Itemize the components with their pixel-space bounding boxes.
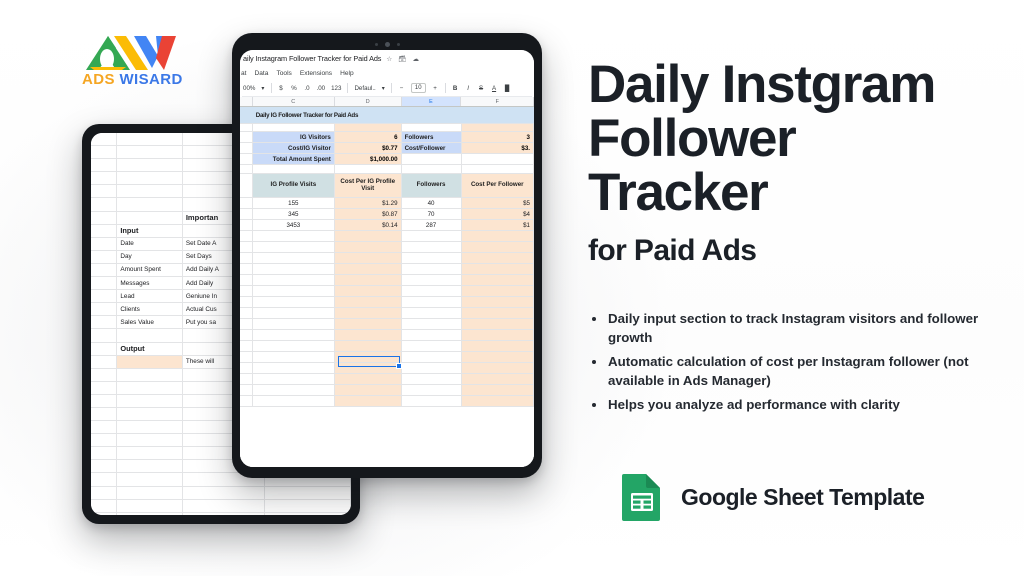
sheets-toolbar: 00% ▾ $ % .0 .00 123 Defaul.. ▾ − 10 + B… <box>242 80 532 97</box>
text-color-button[interactable]: A <box>491 85 498 92</box>
empty-cell[interactable] <box>462 330 534 340</box>
cell[interactable] <box>91 487 117 499</box>
table-empty-row <box>240 242 534 253</box>
empty-cell[interactable] <box>335 124 402 131</box>
empty-cell[interactable] <box>402 374 462 384</box>
empty-cell[interactable] <box>462 363 534 373</box>
row-gutter[interactable] <box>240 264 253 274</box>
cell[interactable] <box>91 460 117 472</box>
empty-cell[interactable] <box>335 330 402 340</box>
summary-label-2[interactable] <box>402 154 462 164</box>
cell[interactable] <box>117 369 182 381</box>
column-header-e[interactable]: E <box>402 97 462 106</box>
cell[interactable] <box>91 212 117 224</box>
empty-cell[interactable] <box>335 308 402 318</box>
empty-cell[interactable] <box>462 352 534 362</box>
cell[interactable] <box>183 513 265 515</box>
empty-cell[interactable] <box>253 124 335 131</box>
empty-cell[interactable] <box>462 308 534 318</box>
table-row: 155$1.2940$5 <box>240 198 534 209</box>
secondary-row-label[interactable]: Date <box>117 238 182 250</box>
row-gutter[interactable] <box>240 253 253 263</box>
menu-item-at[interactable]: at <box>241 70 247 77</box>
empty-cell[interactable] <box>253 330 335 340</box>
cell[interactable] <box>91 146 117 158</box>
empty-cell[interactable] <box>462 396 534 406</box>
row-gutter[interactable] <box>240 275 253 285</box>
empty-cell[interactable] <box>402 308 462 318</box>
summary-row: IG Visitors6Followers3 <box>240 132 534 143</box>
empty-cell[interactable] <box>402 363 462 373</box>
cell[interactable] <box>91 159 117 171</box>
table-empty-row <box>240 264 534 275</box>
row-gutter[interactable] <box>240 374 253 384</box>
empty-cell[interactable] <box>335 264 402 274</box>
table-empty-row <box>240 275 534 286</box>
row-gutter[interactable] <box>240 319 253 329</box>
cell[interactable] <box>265 513 351 515</box>
column-header-d[interactable]: D <box>335 97 402 106</box>
cell[interactable] <box>117 473 182 485</box>
cell[interactable] <box>91 290 117 302</box>
empty-cell[interactable] <box>462 341 534 351</box>
menu-item-data[interactable]: Data <box>255 70 269 77</box>
font-size-decrease-button[interactable]: − <box>398 85 405 92</box>
hero-text-block: Daily Instgram Follower Tracker for Paid… <box>588 58 998 420</box>
table-column-header: Cost Per Follower <box>462 174 534 197</box>
secondary-row-label[interactable]: Clients <box>117 303 182 315</box>
table-empty-row <box>240 231 534 242</box>
font-size-input[interactable]: 10 <box>411 83 426 93</box>
feature-list-item: Helps you analyze ad performance with cl… <box>588 396 998 415</box>
empty-cell[interactable] <box>253 242 335 252</box>
table-empty-row <box>240 319 534 330</box>
title-bar-icons: ☆ 🗃 ☁ <box>386 55 419 63</box>
cell-cost-per-follower[interactable]: $4 <box>462 209 534 219</box>
fill-color-icon[interactable]: █ <box>504 85 511 92</box>
empty-cell[interactable] <box>253 253 335 263</box>
italic-button[interactable]: I <box>465 85 472 92</box>
empty-cell[interactable] <box>462 253 534 263</box>
cell[interactable] <box>91 369 117 381</box>
brand-name-part1: ADS <box>82 71 115 88</box>
column-header-f[interactable]: F <box>461 97 534 106</box>
table-empty-row <box>240 396 534 407</box>
empty-cell[interactable] <box>335 286 402 296</box>
row-gutter[interactable] <box>240 198 253 208</box>
row-gutter[interactable] <box>240 174 253 197</box>
brand-name-part2: WISARD <box>119 71 182 88</box>
sheets-menu-bar: atDataToolsExtensionsHelp <box>240 67 534 79</box>
row-gutter[interactable] <box>240 363 253 373</box>
summary-value[interactable]: $1,000.00 <box>335 154 402 164</box>
cell[interactable] <box>117 421 182 433</box>
empty-cell[interactable] <box>402 124 462 131</box>
column-header-c[interactable]: C <box>253 97 335 106</box>
secondary-row-label[interactable]: Messages <box>117 277 182 289</box>
summary-value-2[interactable] <box>462 154 534 164</box>
empty-cell[interactable] <box>402 242 462 252</box>
empty-cell[interactable] <box>335 275 402 285</box>
empty-cell[interactable] <box>335 396 402 406</box>
empty-cell[interactable] <box>335 231 402 241</box>
empty-cell[interactable] <box>462 124 534 131</box>
empty-cell[interactable] <box>253 264 335 274</box>
table-row: 3453$0.14287$1 <box>240 220 534 231</box>
row-gutter[interactable] <box>240 330 253 340</box>
summary-row: Cost/IG Visitor$0.77Cost/Follower$3. <box>240 143 534 154</box>
font-chevron-down-icon[interactable]: ▾ <box>382 85 385 92</box>
row-gutter[interactable] <box>240 352 253 362</box>
empty-cell[interactable] <box>335 319 402 329</box>
zoom-level[interactable]: 00% <box>243 85 255 92</box>
secondary-section-output[interactable]: Output <box>117 343 182 355</box>
empty-cell[interactable] <box>462 275 534 285</box>
cell[interactable] <box>183 487 265 499</box>
cell[interactable] <box>91 329 117 341</box>
cell[interactable] <box>91 421 117 433</box>
headline-line-2: Follower <box>588 112 998 166</box>
empty-cell[interactable] <box>253 396 335 406</box>
cell[interactable] <box>117 185 182 197</box>
secondary-sheet-row <box>91 500 351 513</box>
summary-label-2[interactable]: Cost/Follower <box>402 143 462 153</box>
cell-cost-per-follower[interactable]: $1 <box>462 220 534 230</box>
secondary-sheet-row <box>91 487 351 500</box>
empty-cell[interactable] <box>402 297 462 307</box>
empty-cell[interactable] <box>253 363 335 373</box>
empty-cell[interactable] <box>253 275 335 285</box>
cell[interactable] <box>117 395 182 407</box>
cell-ig-profile-visits[interactable]: 155 <box>253 198 335 208</box>
cell[interactable] <box>117 460 182 472</box>
summary-label[interactable]: Cost/IG Visitor <box>253 143 335 153</box>
table-empty-row <box>240 341 534 352</box>
primary-tablet-screen: aily Instagram Follower Tracker for Paid… <box>240 50 534 467</box>
empty-cell[interactable] <box>402 275 462 285</box>
empty-cell[interactable] <box>253 286 335 296</box>
toolbar-divider <box>271 83 272 93</box>
empty-cell[interactable] <box>402 341 462 351</box>
cell[interactable] <box>91 408 117 420</box>
empty-cell[interactable] <box>253 374 335 384</box>
row-gutter[interactable] <box>240 107 253 123</box>
cell[interactable] <box>91 343 117 355</box>
row-gutter[interactable] <box>240 297 253 307</box>
cell[interactable] <box>183 500 265 512</box>
row-gutter[interactable] <box>240 308 253 318</box>
empty-cell[interactable] <box>462 374 534 384</box>
cell[interactable] <box>91 434 117 446</box>
empty-cell[interactable] <box>253 319 335 329</box>
empty-cell[interactable] <box>462 165 534 173</box>
table-column-header: Followers <box>402 174 462 197</box>
strikethrough-button[interactable]: S <box>478 85 485 92</box>
cell-cost-per-visit[interactable]: $0.14 <box>335 220 402 230</box>
cell-followers[interactable]: 70 <box>402 209 462 219</box>
cell[interactable] <box>117 198 182 210</box>
cell[interactable] <box>91 277 117 289</box>
table-empty-row <box>240 330 534 341</box>
headline-line-1: Daily Instgram <box>588 58 998 112</box>
table-empty-row <box>240 374 534 385</box>
sheet-table-header-row: IG Profile VisitsCost Per IG Profile Vis… <box>240 174 534 198</box>
front-camera-cluster <box>232 40 542 48</box>
cell[interactable] <box>91 500 117 512</box>
empty-cell[interactable] <box>402 330 462 340</box>
document-title[interactable]: aily Instagram Follower Tracker for Paid… <box>243 54 381 63</box>
cell-ig-profile-visits[interactable]: 345 <box>253 209 335 219</box>
row-gutter[interactable] <box>240 143 253 153</box>
cell[interactable] <box>91 238 117 250</box>
grid-corner <box>240 97 253 106</box>
summary-value-2[interactable]: $3. <box>462 143 534 153</box>
cell-cost-per-follower[interactable]: $5 <box>462 198 534 208</box>
feature-list: Daily input section to track Instagram v… <box>588 310 998 414</box>
cell[interactable] <box>91 185 117 197</box>
empty-cell[interactable] <box>335 165 402 173</box>
empty-cell[interactable] <box>335 341 402 351</box>
summary-label[interactable]: Total Amount Spent <box>253 154 335 164</box>
table-empty-row <box>240 297 534 308</box>
font-family-select[interactable]: Defaul.. <box>354 85 375 92</box>
sheet-grid: Daily IG Follower Tracker for Paid AdsIG… <box>240 107 534 467</box>
empty-cell[interactable] <box>253 165 335 173</box>
empty-cell[interactable] <box>335 242 402 252</box>
empty-cell[interactable] <box>462 264 534 274</box>
empty-cell[interactable] <box>402 231 462 241</box>
feature-list-item: Daily input section to track Instagram v… <box>588 310 998 348</box>
summary-row: Total Amount Spent$1,000.00 <box>240 154 534 165</box>
table-empty-row <box>240 253 534 264</box>
row-gutter[interactable] <box>240 286 253 296</box>
move-to-folder-icon[interactable]: 🗃 <box>398 55 406 63</box>
more-formats-button[interactable]: 123 <box>331 85 341 92</box>
menu-item-extensions[interactable]: Extensions <box>300 70 332 77</box>
cell[interactable] <box>117 408 182 420</box>
cell[interactable] <box>117 434 182 446</box>
empty-cell[interactable] <box>462 231 534 241</box>
sheet-blank-row <box>240 124 534 132</box>
zoom-chevron-down-icon[interactable]: ▾ <box>261 85 264 92</box>
cloud-saved-icon[interactable]: ☁ <box>412 55 419 63</box>
empty-cell[interactable] <box>402 286 462 296</box>
page-subtitle: for Paid Ads <box>588 234 998 268</box>
table-column-header: IG Profile Visits <box>253 174 335 197</box>
cell[interactable] <box>91 172 117 184</box>
empty-cell[interactable] <box>402 385 462 395</box>
cell[interactable] <box>91 198 117 210</box>
decrease-decimal-button[interactable]: .0 <box>304 85 311 92</box>
summary-value[interactable]: 6 <box>335 132 402 142</box>
empty-cell[interactable] <box>253 308 335 318</box>
secondary-row-label[interactable]: Sales Value <box>117 316 182 328</box>
empty-cell[interactable] <box>402 319 462 329</box>
secondary-row-label[interactable]: Amount Spent <box>117 264 182 276</box>
cell[interactable] <box>117 172 182 184</box>
empty-cell[interactable] <box>402 352 462 362</box>
summary-label[interactable]: IG Visitors <box>253 132 335 142</box>
cell[interactable] <box>265 487 351 499</box>
row-gutter[interactable] <box>240 242 253 252</box>
menu-item-tools[interactable]: Tools <box>276 70 291 77</box>
currency-format-button[interactable]: $ <box>278 85 285 92</box>
empty-cell[interactable] <box>462 242 534 252</box>
cell[interactable] <box>117 487 182 499</box>
brand-logo: ADS WISARD <box>78 34 204 88</box>
secondary-row-label[interactable]: Day <box>117 251 182 263</box>
toolbar-divider <box>391 83 392 93</box>
cell[interactable] <box>117 382 182 394</box>
cell[interactable] <box>91 133 117 145</box>
feature-list-item: Automatic calculation of cost per Instag… <box>588 353 998 391</box>
row-gutter[interactable] <box>240 124 253 131</box>
aw-monogram-icon <box>78 34 198 70</box>
empty-cell[interactable] <box>335 297 402 307</box>
empty-cell[interactable] <box>253 297 335 307</box>
empty-cell[interactable] <box>335 374 402 384</box>
row-gutter[interactable] <box>240 341 253 351</box>
headline-line-3: Tracker <box>588 166 998 220</box>
template-type-label: Google Sheet Template <box>681 484 924 511</box>
page-title: Daily Instgram Follower Tracker <box>588 58 998 220</box>
sheet-banner-row: Daily IG Follower Tracker for Paid Ads <box>240 107 534 124</box>
row-gutter[interactable] <box>240 231 253 241</box>
cell[interactable] <box>91 225 117 237</box>
cell[interactable] <box>117 447 182 459</box>
row-gutter[interactable] <box>240 132 253 142</box>
empty-cell[interactable] <box>253 352 335 362</box>
row-gutter[interactable] <box>240 165 253 173</box>
sheet-gap-row <box>240 165 534 174</box>
summary-value[interactable]: $0.77 <box>335 143 402 153</box>
cell[interactable] <box>117 513 182 515</box>
cell[interactable] <box>91 447 117 459</box>
table-empty-row <box>240 308 534 319</box>
secondary-row-label[interactable]: Lead <box>117 290 182 302</box>
cell-ig-profile-visits[interactable]: 3453 <box>253 220 335 230</box>
toolbar-divider <box>445 83 446 93</box>
empty-cell[interactable] <box>402 264 462 274</box>
template-type-footer: Google Sheet Template <box>620 472 924 522</box>
star-icon[interactable]: ☆ <box>386 55 392 63</box>
table-row: 345$0.8770$4 <box>240 209 534 220</box>
summary-value-2[interactable]: 3 <box>462 132 534 142</box>
row-gutter[interactable] <box>240 220 253 230</box>
empty-cell[interactable] <box>253 341 335 351</box>
cell[interactable] <box>91 316 117 328</box>
empty-cell[interactable] <box>253 385 335 395</box>
font-size-increase-button[interactable]: + <box>432 85 439 92</box>
empty-cell[interactable] <box>462 297 534 307</box>
cell[interactable] <box>117 329 182 341</box>
empty-cell[interactable] <box>402 396 462 406</box>
cell[interactable] <box>117 146 182 158</box>
empty-cell[interactable] <box>462 286 534 296</box>
empty-cell[interactable] <box>462 385 534 395</box>
cell[interactable] <box>91 303 117 315</box>
cell-cost-per-visit[interactable]: $0.87 <box>335 209 402 219</box>
empty-cell[interactable] <box>253 231 335 241</box>
cell[interactable] <box>117 500 182 512</box>
empty-cell[interactable] <box>402 165 462 173</box>
table-empty-row <box>240 286 534 297</box>
cell[interactable] <box>91 513 117 515</box>
cell[interactable] <box>91 251 117 263</box>
row-gutter[interactable] <box>240 154 253 164</box>
empty-cell[interactable] <box>335 253 402 263</box>
cell-followers[interactable]: 40 <box>402 198 462 208</box>
secondary-sheet-row <box>91 513 351 515</box>
table-empty-row <box>240 385 534 396</box>
empty-cell[interactable] <box>402 253 462 263</box>
percent-format-button[interactable]: % <box>291 85 298 92</box>
cell[interactable] <box>91 356 117 368</box>
row-gutter[interactable] <box>240 209 253 219</box>
menu-item-help[interactable]: Help <box>340 70 354 77</box>
cell[interactable] <box>91 382 117 394</box>
sheet-column-headers: CDEF <box>240 97 534 107</box>
toolbar-divider <box>347 83 348 93</box>
primary-tablet-device: aily Instagram Follower Tracker for Paid… <box>232 33 542 478</box>
google-sheets-icon <box>620 472 664 522</box>
cell-followers[interactable]: 287 <box>402 220 462 230</box>
increase-decimal-button[interactable]: .00 <box>317 85 326 92</box>
brand-wordmark: ADS WISARD <box>82 71 183 88</box>
empty-cell[interactable] <box>462 319 534 329</box>
google-sheets-app: aily Instagram Follower Tracker for Paid… <box>240 50 534 467</box>
cell[interactable] <box>91 264 117 276</box>
cell[interactable] <box>117 212 182 224</box>
row-gutter[interactable] <box>240 385 253 395</box>
cell[interactable] <box>117 133 182 145</box>
selected-cell[interactable] <box>338 356 400 367</box>
secondary-output-fill[interactable] <box>117 356 182 368</box>
row-gutter[interactable] <box>240 396 253 406</box>
cell-cost-per-visit[interactable]: $1.29 <box>335 198 402 208</box>
secondary-section-input[interactable]: Input <box>117 225 182 237</box>
sheets-title-bar: aily Instagram Follower Tracker for Paid… <box>240 50 534 67</box>
cell[interactable] <box>265 500 351 512</box>
sheet-banner-title: Daily IG Follower Tracker for Paid Ads <box>253 107 534 123</box>
cell[interactable] <box>117 159 182 171</box>
bold-button[interactable]: B <box>452 85 459 92</box>
summary-label-2[interactable]: Followers <box>402 132 462 142</box>
cell[interactable] <box>91 395 117 407</box>
empty-cell[interactable] <box>335 385 402 395</box>
table-column-header: Cost Per IG Profile Visit <box>335 174 402 197</box>
cell[interactable] <box>91 473 117 485</box>
